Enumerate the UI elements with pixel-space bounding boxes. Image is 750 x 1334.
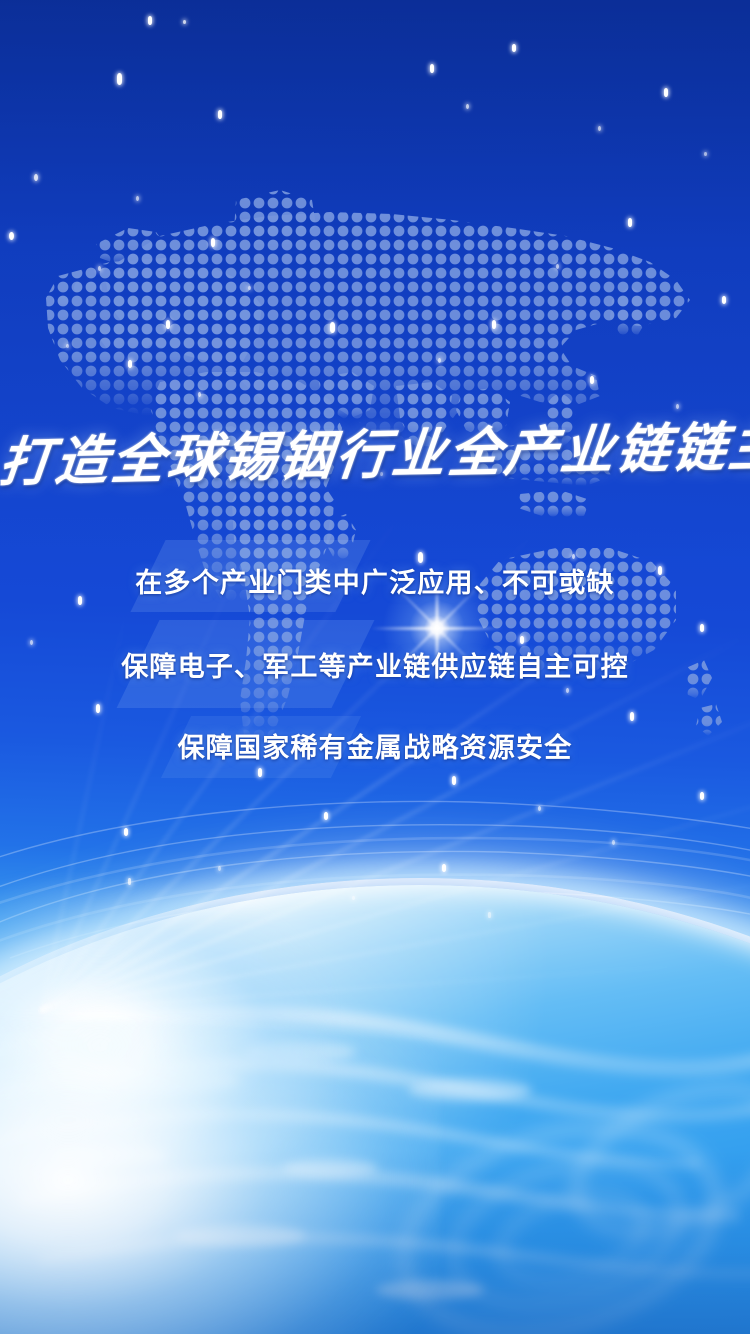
- tagline-2: 保障电子、军工等产业链供应链自主可控: [0, 645, 750, 684]
- tagline-1: 在多个产业门类中广泛应用、不可或缺: [0, 561, 750, 600]
- poster-canvas: 打造全球锡铟行业全产业链链主 在多个产业门类中广泛应用、不可或缺 保障电子、军工…: [0, 0, 750, 1334]
- tagline-3: 保障国家稀有金属战略资源安全: [0, 726, 750, 765]
